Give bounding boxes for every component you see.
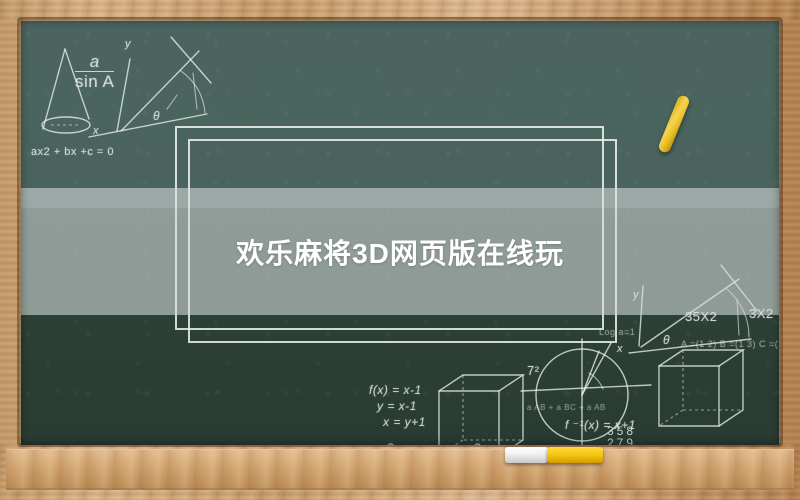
chalk-triangle-law: a AB + a BC + a AB — [527, 403, 606, 412]
chalk-vertical-subtraction: 358 279 637 — [607, 425, 636, 445]
ledge-yellow-chalk-icon — [547, 447, 603, 463]
chalk-quadratic-equation: ax2 + bx +c = 0 — [31, 146, 114, 158]
chalk-fraction-a-sin-a-bottommid: a sin A — [461, 439, 494, 445]
chalkboard-banner: a sin A y x θ ax2 + bx +c = 0 y x θ 35X2… — [0, 0, 800, 500]
chalk-axis-label-y-topleft: y — [125, 38, 131, 50]
subtraction-subtrahend: 279 — [607, 437, 636, 445]
ledge-white-chalk-icon — [505, 447, 548, 463]
frame-rail-top — [0, 0, 800, 20]
chalk-function-x: x = y+1 — [383, 415, 426, 429]
chalk-fraction-a-sin-a-bottomleft: a sin A — [374, 439, 407, 445]
chalk-fraction-a-sin-a-topleft: a sin A — [75, 53, 114, 91]
chalk-function-fx: f(x) = x-1 — [369, 383, 422, 397]
chalk-inverse-function: f ⁻¹(x) = x+1 — [565, 418, 636, 432]
chalk-matrix-row: A =(1 2) B =(1 3) C =(2 3) — [681, 339, 779, 349]
subtraction-minuend: 358 — [607, 425, 636, 437]
chalk-function-y: y = x-1 — [377, 399, 417, 413]
title-overlay-band: 欢乐麻将3D网页版在线玩 — [21, 188, 779, 315]
chalk-axis-label-x-right: x — [617, 343, 623, 355]
chalk-ledge — [6, 449, 794, 490]
chalk-angle-theta-right: θ — [663, 333, 670, 347]
chalk-power-seven: 7² — [527, 363, 540, 378]
chalk-angle-theta-topleft: θ — [153, 109, 160, 123]
page-title: 欢乐麻将3D网页版在线玩 — [236, 232, 564, 272]
chalk-axis-label-x-topleft: x — [93, 125, 99, 137]
